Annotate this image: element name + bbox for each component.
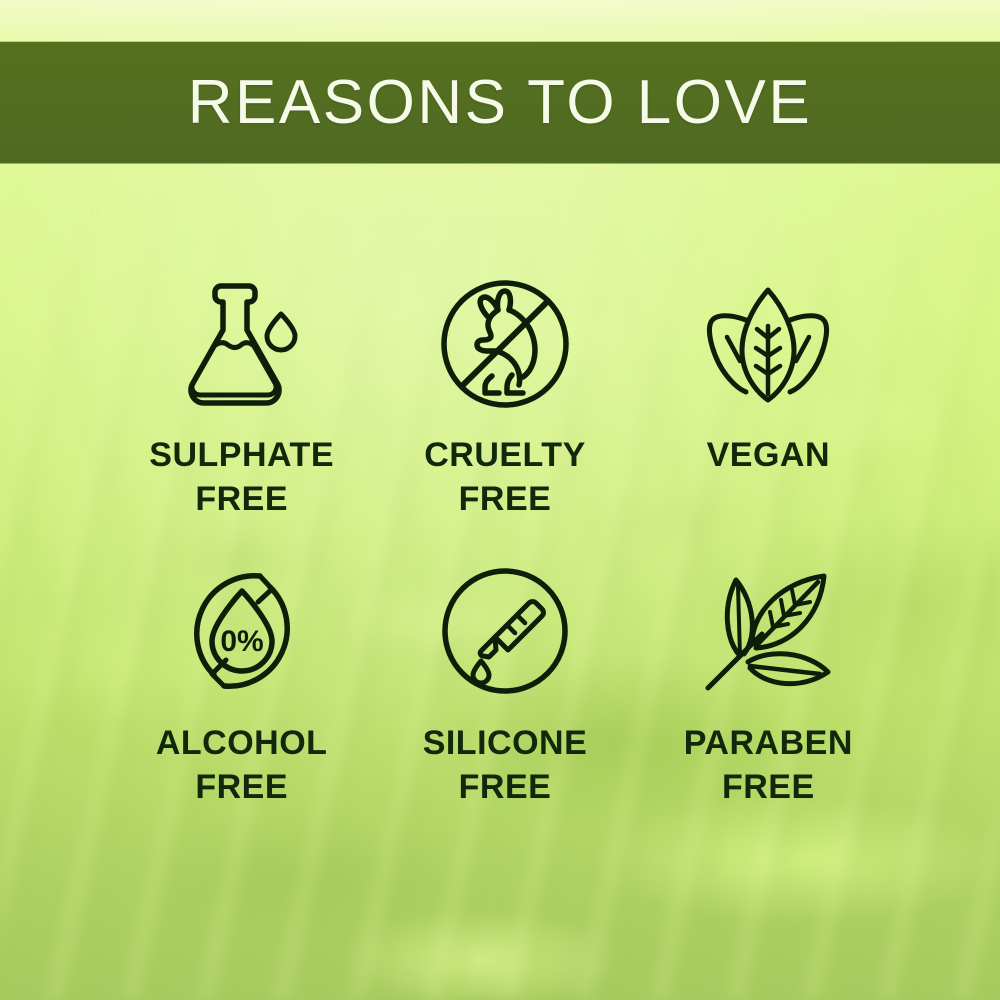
dropper-pipette-icon bbox=[437, 556, 573, 706]
badge-label-line1: CRUELTY bbox=[424, 436, 586, 474]
no-animal-testing-rabbit-icon bbox=[437, 270, 573, 418]
leaf-sprig-icon bbox=[696, 556, 840, 706]
badge-label: VEGAN bbox=[707, 434, 830, 478]
badge-label-line2: FREE bbox=[156, 766, 328, 810]
badge-label-line2: FREE bbox=[149, 478, 334, 522]
badge-label: SULPHATE FREE bbox=[149, 434, 334, 521]
no-alcohol-droplet-zero-percent-icon: 0% bbox=[174, 556, 310, 706]
badge-label-line2: FREE bbox=[423, 766, 588, 810]
badge-paraben-free: PARABEN FREE bbox=[648, 556, 888, 842]
header-banner: REASONS TO LOVE bbox=[0, 42, 1000, 163]
badge-label-line1: VEGAN bbox=[707, 436, 830, 474]
badge-label-line2: FREE bbox=[424, 478, 586, 522]
reasons-to-love-infographic: REASONS TO LOVE SULPHATE FREE bbox=[0, 0, 1000, 1000]
badge-alcohol-free: 0% ALCOHOL FREE bbox=[122, 556, 362, 842]
badge-label-line2: FREE bbox=[684, 766, 853, 810]
benefits-grid: SULPHATE FREE bbox=[110, 270, 900, 842]
page-title: REASONS TO LOVE bbox=[188, 72, 812, 134]
badge-label: PARABEN FREE bbox=[684, 722, 853, 809]
badge-label-line1: PARABEN bbox=[684, 724, 853, 762]
badge-silicone-free: SILICONE FREE bbox=[385, 556, 625, 842]
badge-label: ALCOHOL FREE bbox=[156, 722, 328, 809]
badge-vegan: VEGAN bbox=[648, 270, 888, 556]
badge-label: CRUELTY FREE bbox=[424, 434, 586, 521]
flask-droplet-icon bbox=[177, 270, 307, 418]
badge-cruelty-free: CRUELTY FREE bbox=[385, 270, 625, 556]
badge-label-line1: SULPHATE bbox=[149, 436, 334, 474]
badge-label-line1: SILICONE bbox=[423, 724, 588, 762]
badge-label-line1: ALCOHOL bbox=[156, 724, 328, 762]
three-leaves-vegan-icon bbox=[696, 270, 840, 418]
badge-label: SILICONE FREE bbox=[423, 722, 588, 809]
badge-sulphate-free: SULPHATE FREE bbox=[122, 270, 362, 556]
zero-percent-text: 0% bbox=[220, 625, 263, 658]
